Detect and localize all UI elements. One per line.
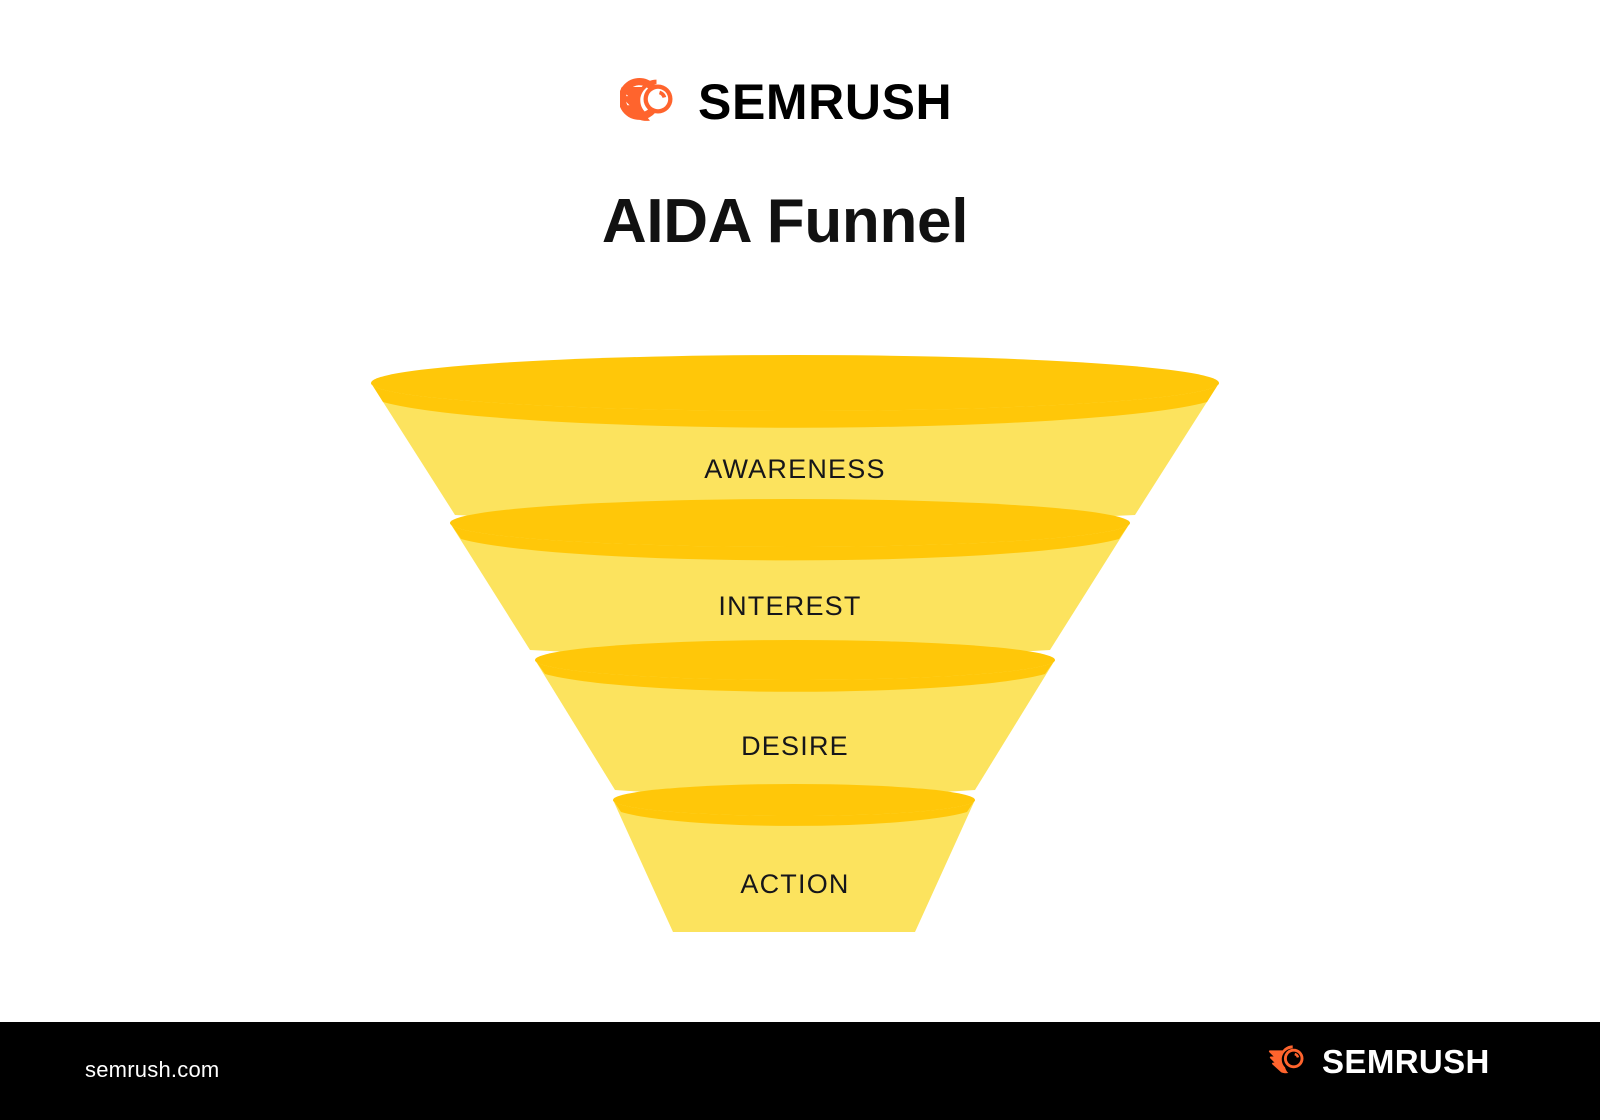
semrush-logo-header: SEMRUSH <box>620 76 952 127</box>
funnel-stage-desire-rim <box>535 640 1055 680</box>
funnel-stage-interest[interactable]: INTEREST <box>450 499 1130 658</box>
semrush-logo-footer: SEMRUSH <box>1268 1043 1490 1079</box>
semrush-wordmark: SEMRUSH <box>698 77 952 127</box>
funnel-stage-desire-label: DESIRE <box>741 731 849 761</box>
semrush-comet-icon <box>620 76 682 127</box>
funnel-stage-action[interactable]: ACTION <box>613 784 975 932</box>
funnel-stage-interest-rim <box>450 499 1130 547</box>
funnel-stage-action-rim <box>613 784 975 816</box>
funnel-stage-awareness-rim <box>371 355 1219 411</box>
funnel-stage-action-label: ACTION <box>740 869 849 899</box>
footer-url[interactable]: semrush.com <box>85 1057 219 1083</box>
semrush-comet-icon <box>1268 1043 1310 1079</box>
funnel-stage-desire[interactable]: DESIRE <box>535 640 1055 797</box>
infographic-page: SEMRUSH AIDA Funnel AWARENESS INTEREST <box>0 0 1600 1120</box>
semrush-wordmark: SEMRUSH <box>1322 1045 1490 1078</box>
funnel-stage-interest-label: INTEREST <box>718 591 861 621</box>
aida-funnel-chart: AWARENESS INTEREST DESIRE ACT <box>0 340 1570 960</box>
page-title: AIDA Funnel <box>0 186 1570 257</box>
funnel-stage-awareness-label: AWARENESS <box>704 454 885 484</box>
funnel-stage-awareness[interactable]: AWARENESS <box>371 355 1219 524</box>
